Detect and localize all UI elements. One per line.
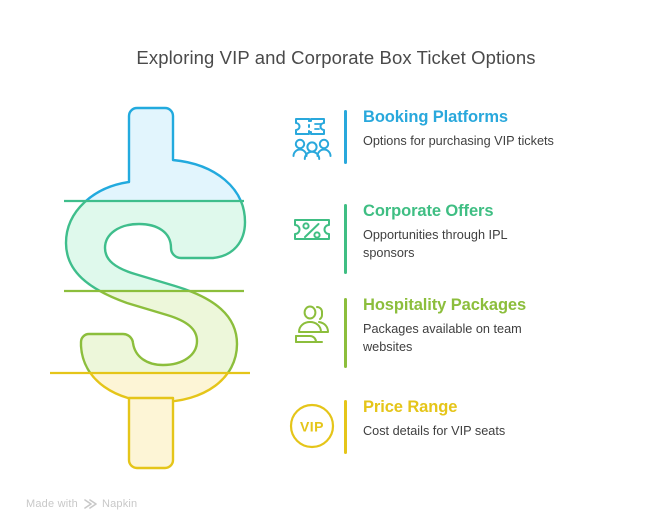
item-heading-hospitality-packages: Hospitality Packages <box>363 294 548 316</box>
list-item-corporate-offers[interactable]: Corporate Offers Opportunities through I… <box>286 200 646 274</box>
napkin-chevron-icon <box>83 498 97 510</box>
list-item-price-range[interactable]: VIP Price Range Cost details for VIP sea… <box>286 396 646 454</box>
list-item-hospitality-packages[interactable]: Hospitality Packages Packages available … <box>286 294 646 368</box>
list-item-booking-platforms[interactable]: Booking Platforms Options for purchasing… <box>286 106 646 164</box>
hospitality-service-icon <box>286 296 338 352</box>
item-description-booking-platforms: Options for purchasing VIP tickets <box>363 132 554 150</box>
item-text-price-range: Price Range Cost details for VIP seats <box>363 396 505 440</box>
accent-bar-corporate-offers <box>344 204 347 274</box>
item-heading-booking-platforms: Booking Platforms <box>363 106 554 128</box>
item-description-price-range: Cost details for VIP seats <box>363 422 505 440</box>
made-with-label: Made with <box>26 498 78 510</box>
accent-bar-price-range <box>344 400 347 454</box>
item-heading-corporate-offers: Corporate Offers <box>363 200 538 222</box>
item-description-hospitality-packages: Packages available on team websites <box>363 320 548 356</box>
napkin-watermark: Made with Napkin <box>26 498 137 510</box>
vip-badge-icon: VIP <box>286 398 338 454</box>
item-text-booking-platforms: Booking Platforms Options for purchasing… <box>363 106 554 150</box>
page-title: Exploring VIP and Corporate Box Ticket O… <box>0 45 672 71</box>
napkin-brand-label: Napkin <box>102 498 137 510</box>
item-description-corporate-offers: Opportunities through IPL sponsors <box>363 226 538 262</box>
vip-badge-label: VIP <box>300 419 324 435</box>
slide-canvas: Exploring VIP and Corporate Box Ticket O… <box>0 0 672 528</box>
accent-bar-booking-platforms <box>344 110 347 164</box>
discount-coupon-icon <box>286 202 338 258</box>
item-heading-price-range: Price Range <box>363 396 505 418</box>
ticket-people-icon <box>286 108 338 164</box>
dollar-sign-svg <box>28 98 280 478</box>
accent-bar-hospitality-packages <box>344 298 347 368</box>
item-text-hospitality-packages: Hospitality Packages Packages available … <box>363 294 548 356</box>
dollar-glyph <box>50 108 250 468</box>
dollar-sign-illustration <box>28 98 280 478</box>
item-text-corporate-offers: Corporate Offers Opportunities through I… <box>363 200 538 262</box>
